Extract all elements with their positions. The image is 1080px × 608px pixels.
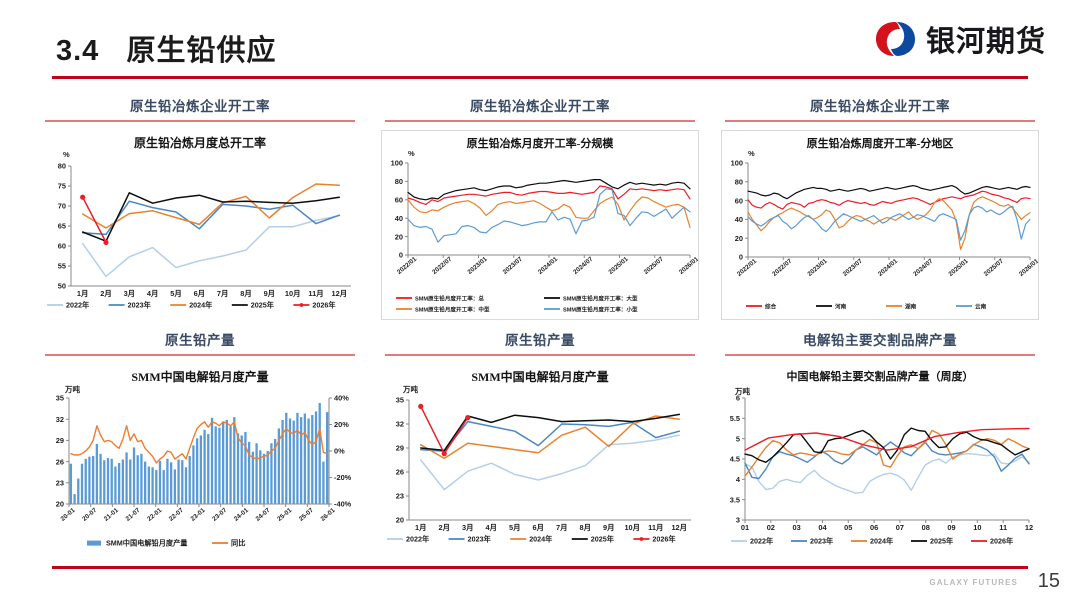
- svg-text:2026/01: 2026/01: [1018, 257, 1038, 277]
- svg-text:2022年: 2022年: [406, 534, 429, 543]
- svg-text:河南: 河南: [835, 302, 847, 310]
- panel-header: 原生铅冶炼企业开工率: [30, 98, 370, 122]
- svg-text:12月: 12月: [671, 523, 687, 532]
- svg-text:2023年: 2023年: [468, 534, 491, 543]
- svg-text:1月: 1月: [415, 523, 427, 532]
- panel-heading: 原生铅冶炼企业开工率: [30, 98, 370, 116]
- svg-text:10月: 10月: [624, 523, 640, 532]
- svg-text:-40%: -40%: [334, 499, 352, 508]
- panel-heading: 电解铅主要交割品牌产量: [710, 332, 1050, 350]
- panel-divider: [725, 354, 1035, 356]
- svg-text:2月: 2月: [100, 289, 112, 298]
- title-divider: [52, 76, 1028, 79]
- svg-text:2024年: 2024年: [529, 534, 552, 543]
- svg-text:60: 60: [735, 196, 743, 205]
- svg-text:3.5: 3.5: [730, 495, 740, 504]
- svg-text:80: 80: [58, 161, 66, 170]
- y-axis-unit: %: [63, 150, 70, 159]
- svg-text:湖南: 湖南: [905, 302, 917, 310]
- svg-text:50: 50: [58, 281, 66, 290]
- chart-title: SMM中国电解铅月度产量: [41, 368, 359, 385]
- svg-text:4.5: 4.5: [730, 454, 740, 463]
- panel-weekly-operating-rate-by-region: 原生铅冶炼企业开工率 原生铅冶炼周度开工率-分地区 % 020406080100…: [710, 98, 1050, 334]
- chart-seasonal-refined-lead-output: SMM中国电解铅月度产量 万吨 2023262932351月2月3月4月5月6月…: [381, 364, 699, 554]
- svg-text:12: 12: [1025, 523, 1033, 532]
- svg-text:11月: 11月: [648, 523, 663, 532]
- svg-text:32: 32: [56, 414, 64, 423]
- y-axis-unit: 万吨: [735, 386, 750, 397]
- svg-text:35: 35: [56, 393, 64, 402]
- svg-text:23: 23: [56, 478, 64, 487]
- svg-text:11月: 11月: [308, 289, 323, 298]
- svg-text:20%: 20%: [334, 420, 349, 429]
- chart-title: 原生铅冶炼月度总开工率: [41, 134, 359, 151]
- svg-text:23: 23: [396, 491, 404, 500]
- svg-text:22-07: 22-07: [168, 506, 185, 522]
- svg-text:2025年: 2025年: [591, 534, 614, 543]
- svg-text:09: 09: [947, 523, 955, 532]
- svg-text:2023/07: 2023/07: [842, 257, 865, 277]
- svg-text:0: 0: [399, 250, 403, 259]
- svg-text:5月: 5月: [509, 523, 521, 532]
- svg-text:3月: 3月: [124, 289, 136, 298]
- svg-text:2025/01: 2025/01: [607, 255, 630, 275]
- svg-text:100: 100: [731, 158, 743, 167]
- svg-text:SMM原生铅月度开工率：中型: SMM原生铅月度开工率：中型: [415, 305, 490, 313]
- svg-text:24-01: 24-01: [233, 506, 250, 522]
- svg-text:2024/01: 2024/01: [877, 257, 900, 277]
- chart-weekly-operating-rate-by-region: 原生铅冶炼周度开工率-分地区 % 0204060801002022/012022…: [721, 130, 1039, 320]
- chart-title: 原生铅冶炼月度开工率-分规模: [382, 135, 698, 151]
- panel-divider: [385, 120, 695, 122]
- svg-text:2022/07: 2022/07: [431, 255, 454, 275]
- svg-text:5月: 5月: [170, 289, 182, 298]
- svg-text:7月: 7月: [217, 289, 229, 298]
- chart-operating-rate-by-scale: 原生铅冶炼月度开工率-分规模 % 0204060801002022/012022…: [381, 130, 699, 320]
- svg-text:4月: 4月: [147, 289, 159, 298]
- svg-text:26: 26: [56, 457, 64, 466]
- svg-text:2025/07: 2025/07: [643, 255, 666, 275]
- svg-text:20: 20: [396, 515, 404, 524]
- svg-text:2026年: 2026年: [990, 536, 1013, 545]
- panel-header: 原生铅产量: [30, 332, 370, 356]
- chart-canvas-1: 505560657075801月2月3月4月5月6月7月8月9月10月11月12…: [41, 130, 359, 320]
- svg-text:5.5: 5.5: [730, 414, 740, 423]
- svg-text:2022年: 2022年: [750, 536, 773, 545]
- svg-text:40: 40: [395, 213, 403, 222]
- svg-text:04: 04: [818, 523, 827, 532]
- page-number: 15: [1038, 570, 1060, 593]
- svg-text:25-07: 25-07: [298, 506, 315, 522]
- svg-text:综合: 综合: [765, 302, 777, 310]
- svg-text:9月: 9月: [603, 523, 615, 532]
- svg-text:06: 06: [870, 523, 878, 532]
- y-axis-unit: 万吨: [65, 384, 80, 395]
- charts-grid: 原生铅冶炼企业开工率 原生铅冶炼月度总开工率 % 505560657075801…: [0, 88, 1080, 568]
- svg-text:32: 32: [396, 419, 404, 428]
- svg-text:SMM中国电解铅月度产量: SMM中国电解铅月度产量: [106, 538, 188, 547]
- svg-text:20-07: 20-07: [81, 506, 98, 522]
- svg-text:-20%: -20%: [334, 473, 352, 482]
- chart-canvas-2: 0204060801002022/012022/072023/012023/07…: [382, 131, 698, 319]
- svg-text:10: 10: [973, 523, 981, 532]
- svg-text:同比: 同比: [231, 538, 245, 547]
- panel-header: 原生铅冶炼企业开工率: [710, 98, 1050, 122]
- panel-heading: 原生铅冶炼企业开工率: [370, 98, 710, 116]
- svg-text:2023/07: 2023/07: [502, 255, 525, 275]
- svg-text:SMM原生铅月度开工率：大型: SMM原生铅月度开工率：大型: [563, 294, 638, 302]
- svg-text:1月: 1月: [77, 289, 89, 298]
- svg-text:0%: 0%: [334, 446, 345, 455]
- panel-operating-rate-by-scale: 原生铅冶炼企业开工率 原生铅冶炼月度开工率-分规模 % 020406080100…: [370, 98, 710, 334]
- svg-text:云南: 云南: [975, 302, 987, 310]
- svg-text:20: 20: [735, 233, 743, 242]
- chart-title: SMM中国电解铅月度产量: [381, 368, 699, 385]
- svg-text:03: 03: [793, 523, 801, 532]
- panel-total-operating-rate: 原生铅冶炼企业开工率 原生铅冶炼月度总开工率 % 505560657075801…: [30, 98, 370, 334]
- y-axis-unit: 万吨: [403, 384, 418, 395]
- svg-text:2026/01: 2026/01: [678, 255, 698, 275]
- svg-text:08: 08: [922, 523, 930, 532]
- svg-text:9月: 9月: [264, 289, 276, 298]
- panel-heading: 原生铅冶炼企业开工率: [710, 98, 1050, 116]
- y-axis-unit: %: [748, 149, 755, 158]
- galaxy-swirl-logo-icon: [874, 19, 917, 59]
- svg-text:65: 65: [58, 221, 66, 230]
- svg-text:2月: 2月: [438, 523, 450, 532]
- footer-brand: GALAXY FUTURES: [929, 578, 1018, 587]
- svg-text:23-07: 23-07: [211, 506, 228, 522]
- svg-text:2025年: 2025年: [251, 300, 274, 309]
- svg-text:80: 80: [395, 177, 403, 186]
- chart-canvas-5: 2023262932351月2月3月4月5月6月7月8月9月10月11月12月2…: [381, 364, 699, 554]
- svg-text:2026年: 2026年: [652, 534, 675, 543]
- svg-text:2024/07: 2024/07: [912, 257, 935, 277]
- chart-canvas-3: 0204060801002022/012022/072023/012023/07…: [722, 131, 1038, 319]
- slide-header: 3.4 原生铅供应 银河期货: [0, 0, 1080, 84]
- svg-text:SMM原生铅月度开工率：总: SMM原生铅月度开工率：总: [415, 294, 484, 302]
- svg-text:2025年: 2025年: [930, 536, 953, 545]
- svg-text:07: 07: [896, 523, 904, 532]
- svg-text:3月: 3月: [462, 523, 474, 532]
- page-title: 3.4 原生铅供应: [56, 27, 277, 69]
- svg-text:25-01: 25-01: [276, 506, 293, 522]
- svg-text:26: 26: [396, 467, 404, 476]
- svg-text:2023/01: 2023/01: [806, 257, 829, 277]
- svg-text:4: 4: [736, 475, 741, 484]
- panel-divider: [45, 120, 355, 122]
- svg-text:75: 75: [58, 181, 66, 190]
- svg-text:2022年: 2022年: [66, 300, 89, 309]
- svg-text:2024/07: 2024/07: [572, 255, 595, 275]
- svg-text:60: 60: [58, 241, 66, 250]
- panel-monthly-refined-lead-output: 原生铅产量 SMM中国电解铅月度产量 万吨 202326293235-40%-2…: [30, 332, 370, 564]
- svg-text:70: 70: [58, 201, 66, 210]
- chart-weekly-deliverable-brand-output: 中国电解铅主要交割品牌产量（周度） 万吨 33.544.555.56010203…: [721, 364, 1039, 554]
- panel-divider: [385, 354, 695, 356]
- svg-text:26-01: 26-01: [320, 506, 337, 522]
- svg-text:2023/01: 2023/01: [466, 255, 489, 275]
- chart-canvas-6: 33.544.555.56010203040506070809101112202…: [721, 364, 1039, 554]
- chart-total-operating-rate: 原生铅冶炼月度总开工率 % 505560657075801月2月3月4月5月6月…: [41, 130, 359, 320]
- svg-text:7月: 7月: [556, 523, 568, 532]
- svg-text:8月: 8月: [579, 523, 591, 532]
- brand-logo: 银河期货: [874, 18, 1046, 60]
- svg-text:55: 55: [58, 261, 66, 270]
- svg-text:100: 100: [391, 158, 403, 167]
- panel-divider: [725, 120, 1035, 122]
- panel-heading: 原生铅产量: [370, 332, 710, 350]
- svg-text:40%: 40%: [334, 393, 349, 402]
- panel-header: 原生铅冶炼企业开工率: [370, 98, 710, 122]
- svg-text:05: 05: [844, 523, 852, 532]
- svg-text:0: 0: [739, 252, 743, 261]
- svg-text:2022/07: 2022/07: [771, 257, 794, 277]
- chart-title: 中国电解铅主要交割品牌产量（周度）: [721, 368, 1039, 384]
- svg-text:2026年: 2026年: [312, 300, 335, 309]
- svg-text:SMM原生铅月度开工率：小型: SMM原生铅月度开工率：小型: [563, 305, 638, 313]
- svg-text:6月: 6月: [194, 289, 206, 298]
- svg-text:2025/01: 2025/01: [947, 257, 970, 277]
- svg-text:29: 29: [56, 436, 64, 445]
- y-axis-unit: %: [408, 149, 415, 158]
- svg-text:40: 40: [735, 215, 743, 224]
- panel-heading: 原生铅产量: [30, 332, 370, 350]
- svg-text:35: 35: [396, 395, 404, 404]
- chart-monthly-refined-lead-output: SMM中国电解铅月度产量 万吨 202326293235-40%-20%0%20…: [41, 364, 359, 554]
- panel-header: 原生铅产量: [370, 332, 710, 356]
- svg-text:01: 01: [741, 523, 749, 532]
- svg-text:5: 5: [736, 434, 740, 443]
- panel-divider: [45, 354, 355, 356]
- svg-text:23-01: 23-01: [190, 506, 207, 522]
- svg-text:2024年: 2024年: [870, 536, 893, 545]
- svg-text:80: 80: [735, 177, 743, 186]
- svg-text:21-01: 21-01: [103, 506, 120, 522]
- svg-text:12月: 12月: [332, 289, 348, 298]
- svg-text:2024/01: 2024/01: [537, 255, 560, 275]
- svg-text:60: 60: [395, 195, 403, 204]
- svg-text:20: 20: [395, 232, 403, 241]
- svg-text:20-01: 20-01: [60, 506, 77, 522]
- svg-text:2025/07: 2025/07: [983, 257, 1006, 277]
- section-number: 3.4: [56, 35, 99, 67]
- svg-text:02: 02: [767, 523, 775, 532]
- panel-header: 电解铅主要交割品牌产量: [710, 332, 1050, 356]
- svg-text:2023年: 2023年: [810, 536, 833, 545]
- chart-title: 原生铅冶炼周度开工率-分地区: [722, 135, 1038, 151]
- svg-text:3: 3: [736, 515, 740, 524]
- svg-text:10月: 10月: [285, 289, 301, 298]
- brand-name: 银河期货: [926, 18, 1046, 60]
- chart-canvas-4: 202326293235-40%-20%0%20%40%20-0120-0721…: [41, 364, 359, 554]
- panel-weekly-deliverable-brand-output: 电解铅主要交割品牌产量 中国电解铅主要交割品牌产量（周度） 万吨 33.544.…: [710, 332, 1050, 564]
- svg-text:11: 11: [999, 523, 1007, 532]
- svg-text:2024年: 2024年: [189, 300, 212, 309]
- svg-text:20: 20: [56, 499, 64, 508]
- svg-text:8月: 8月: [240, 289, 252, 298]
- svg-text:22-01: 22-01: [146, 506, 163, 522]
- svg-text:24-07: 24-07: [255, 506, 272, 522]
- footer-divider: [52, 566, 1028, 569]
- section-title: 原生铅供应: [127, 35, 277, 67]
- svg-text:2023年: 2023年: [128, 300, 151, 309]
- svg-text:4月: 4月: [485, 523, 497, 532]
- panel-seasonal-refined-lead-output: 原生铅产量 SMM中国电解铅月度产量 万吨 2023262932351月2月3月…: [370, 332, 710, 564]
- svg-text:29: 29: [396, 443, 404, 452]
- svg-text:21-07: 21-07: [125, 506, 142, 522]
- svg-text:6月: 6月: [532, 523, 544, 532]
